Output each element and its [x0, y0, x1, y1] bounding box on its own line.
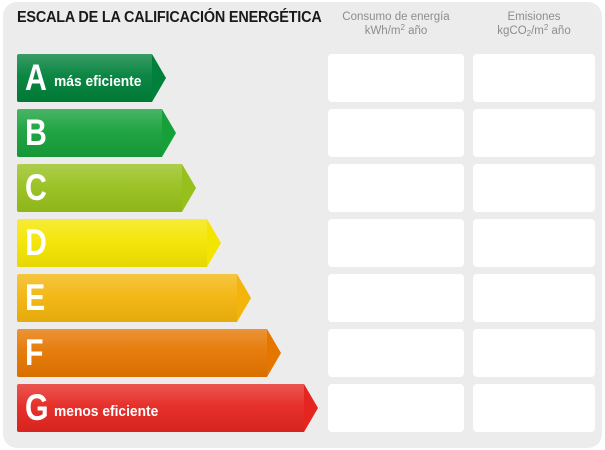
rating-band-f[interactable]: F — [17, 329, 281, 377]
band-arrow-tip-icon — [207, 219, 221, 267]
rating-row-d: D — [3, 219, 605, 267]
value-box-emisiones-b[interactable] — [473, 109, 595, 157]
rating-band-c[interactable]: C — [17, 164, 196, 212]
rating-letter-d: D — [25, 220, 47, 266]
value-box-consumo-a[interactable] — [328, 54, 464, 102]
rating-row-g: Gmenos eficiente — [3, 384, 605, 432]
value-box-consumo-c[interactable] — [328, 164, 464, 212]
band-arrow-tip-icon — [152, 54, 166, 102]
rating-band-a[interactable]: Amás eficiente — [17, 54, 166, 102]
column-header-consumo-line2: kWh/m2 año — [365, 25, 428, 37]
band-arrow-tip-icon — [237, 274, 251, 322]
rating-band-g[interactable]: Gmenos eficiente — [17, 384, 318, 432]
band-arrow-tip-icon — [267, 329, 281, 377]
value-box-consumo-g[interactable] — [328, 384, 464, 432]
value-box-emisiones-d[interactable] — [473, 219, 595, 267]
rating-band-b[interactable]: B — [17, 109, 176, 157]
rating-caption-g: menos eficiente — [54, 384, 158, 432]
band-arrow-tip-icon — [162, 109, 176, 157]
column-header-emisiones-line1: Emisiones — [507, 11, 560, 23]
rating-letter-e: E — [25, 275, 45, 321]
column-header-consumo-line1: Consumo de energía — [342, 11, 449, 23]
band-arrow-tip-icon — [304, 384, 318, 432]
rating-row-c: C — [3, 164, 605, 212]
rating-caption-a: más eficiente — [54, 54, 141, 102]
rating-row-f: F — [3, 329, 605, 377]
rating-letter-f: F — [25, 330, 44, 376]
rating-letter-b: B — [25, 110, 47, 156]
energy-rating-panel: ESCALA DE LA CALIFICACIÓN ENERGÉTICA Con… — [3, 2, 602, 448]
band-gloss — [17, 329, 267, 377]
rating-letter-c: C — [25, 165, 47, 211]
column-header-emisiones-line2: kgCO2/m2 año — [497, 25, 570, 37]
rating-row-b: B — [3, 109, 605, 157]
value-box-emisiones-g[interactable] — [473, 384, 595, 432]
value-box-emisiones-f[interactable] — [473, 329, 595, 377]
band-body — [17, 329, 267, 377]
band-arrow-tip-icon — [182, 164, 196, 212]
value-box-emisiones-c[interactable] — [473, 164, 595, 212]
band-body — [17, 274, 237, 322]
value-box-emisiones-e[interactable] — [473, 274, 595, 322]
value-box-consumo-f[interactable] — [328, 329, 464, 377]
rating-band-e[interactable]: E — [17, 274, 251, 322]
rating-letter-a: A — [25, 55, 47, 101]
rating-row-a: Amás eficiente — [3, 54, 605, 102]
column-header-consumo: Consumo de energía kWh/m2 año — [328, 10, 464, 39]
rating-letter-g: G — [25, 385, 49, 431]
column-header-emisiones: Emisiones kgCO2/m2 año — [473, 10, 595, 39]
value-box-consumo-d[interactable] — [328, 219, 464, 267]
value-box-consumo-e[interactable] — [328, 274, 464, 322]
value-box-emisiones-a[interactable] — [473, 54, 595, 102]
rating-row-e: E — [3, 274, 605, 322]
value-box-consumo-b[interactable] — [328, 109, 464, 157]
band-gloss — [17, 274, 237, 322]
rating-band-d[interactable]: D — [17, 219, 221, 267]
page-title: ESCALA DE LA CALIFICACIÓN ENERGÉTICA — [17, 9, 322, 27]
